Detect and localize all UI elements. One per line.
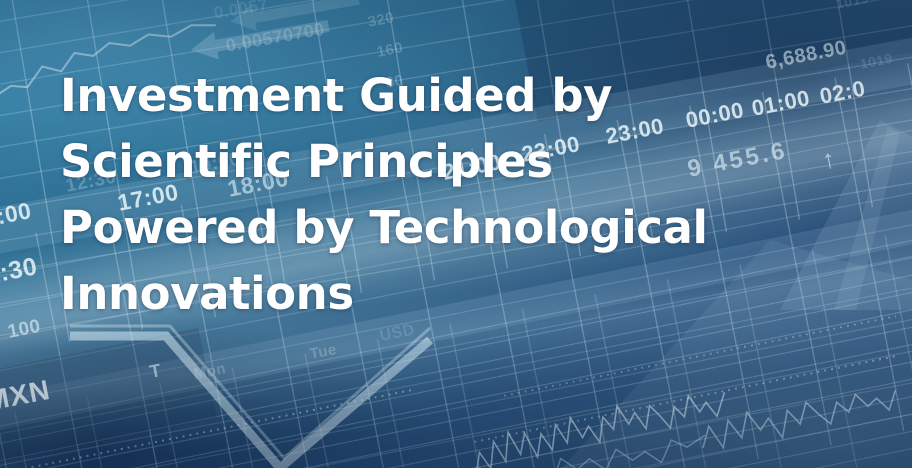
- headline-line-4: Innovations: [60, 261, 890, 327]
- page-title: Investment Guided by Scientific Principl…: [60, 63, 890, 327]
- hero-banner: 5:00 17:00 18:00 1:30 21:00 23:00 23:00 …: [0, 0, 912, 468]
- headline-line-2: Scientific Principles: [60, 129, 890, 195]
- background-trend-line: [70, 318, 430, 468]
- headline-line-3: Powered by Technological: [60, 195, 890, 261]
- headline-line-1: Investment Guided by: [60, 63, 890, 129]
